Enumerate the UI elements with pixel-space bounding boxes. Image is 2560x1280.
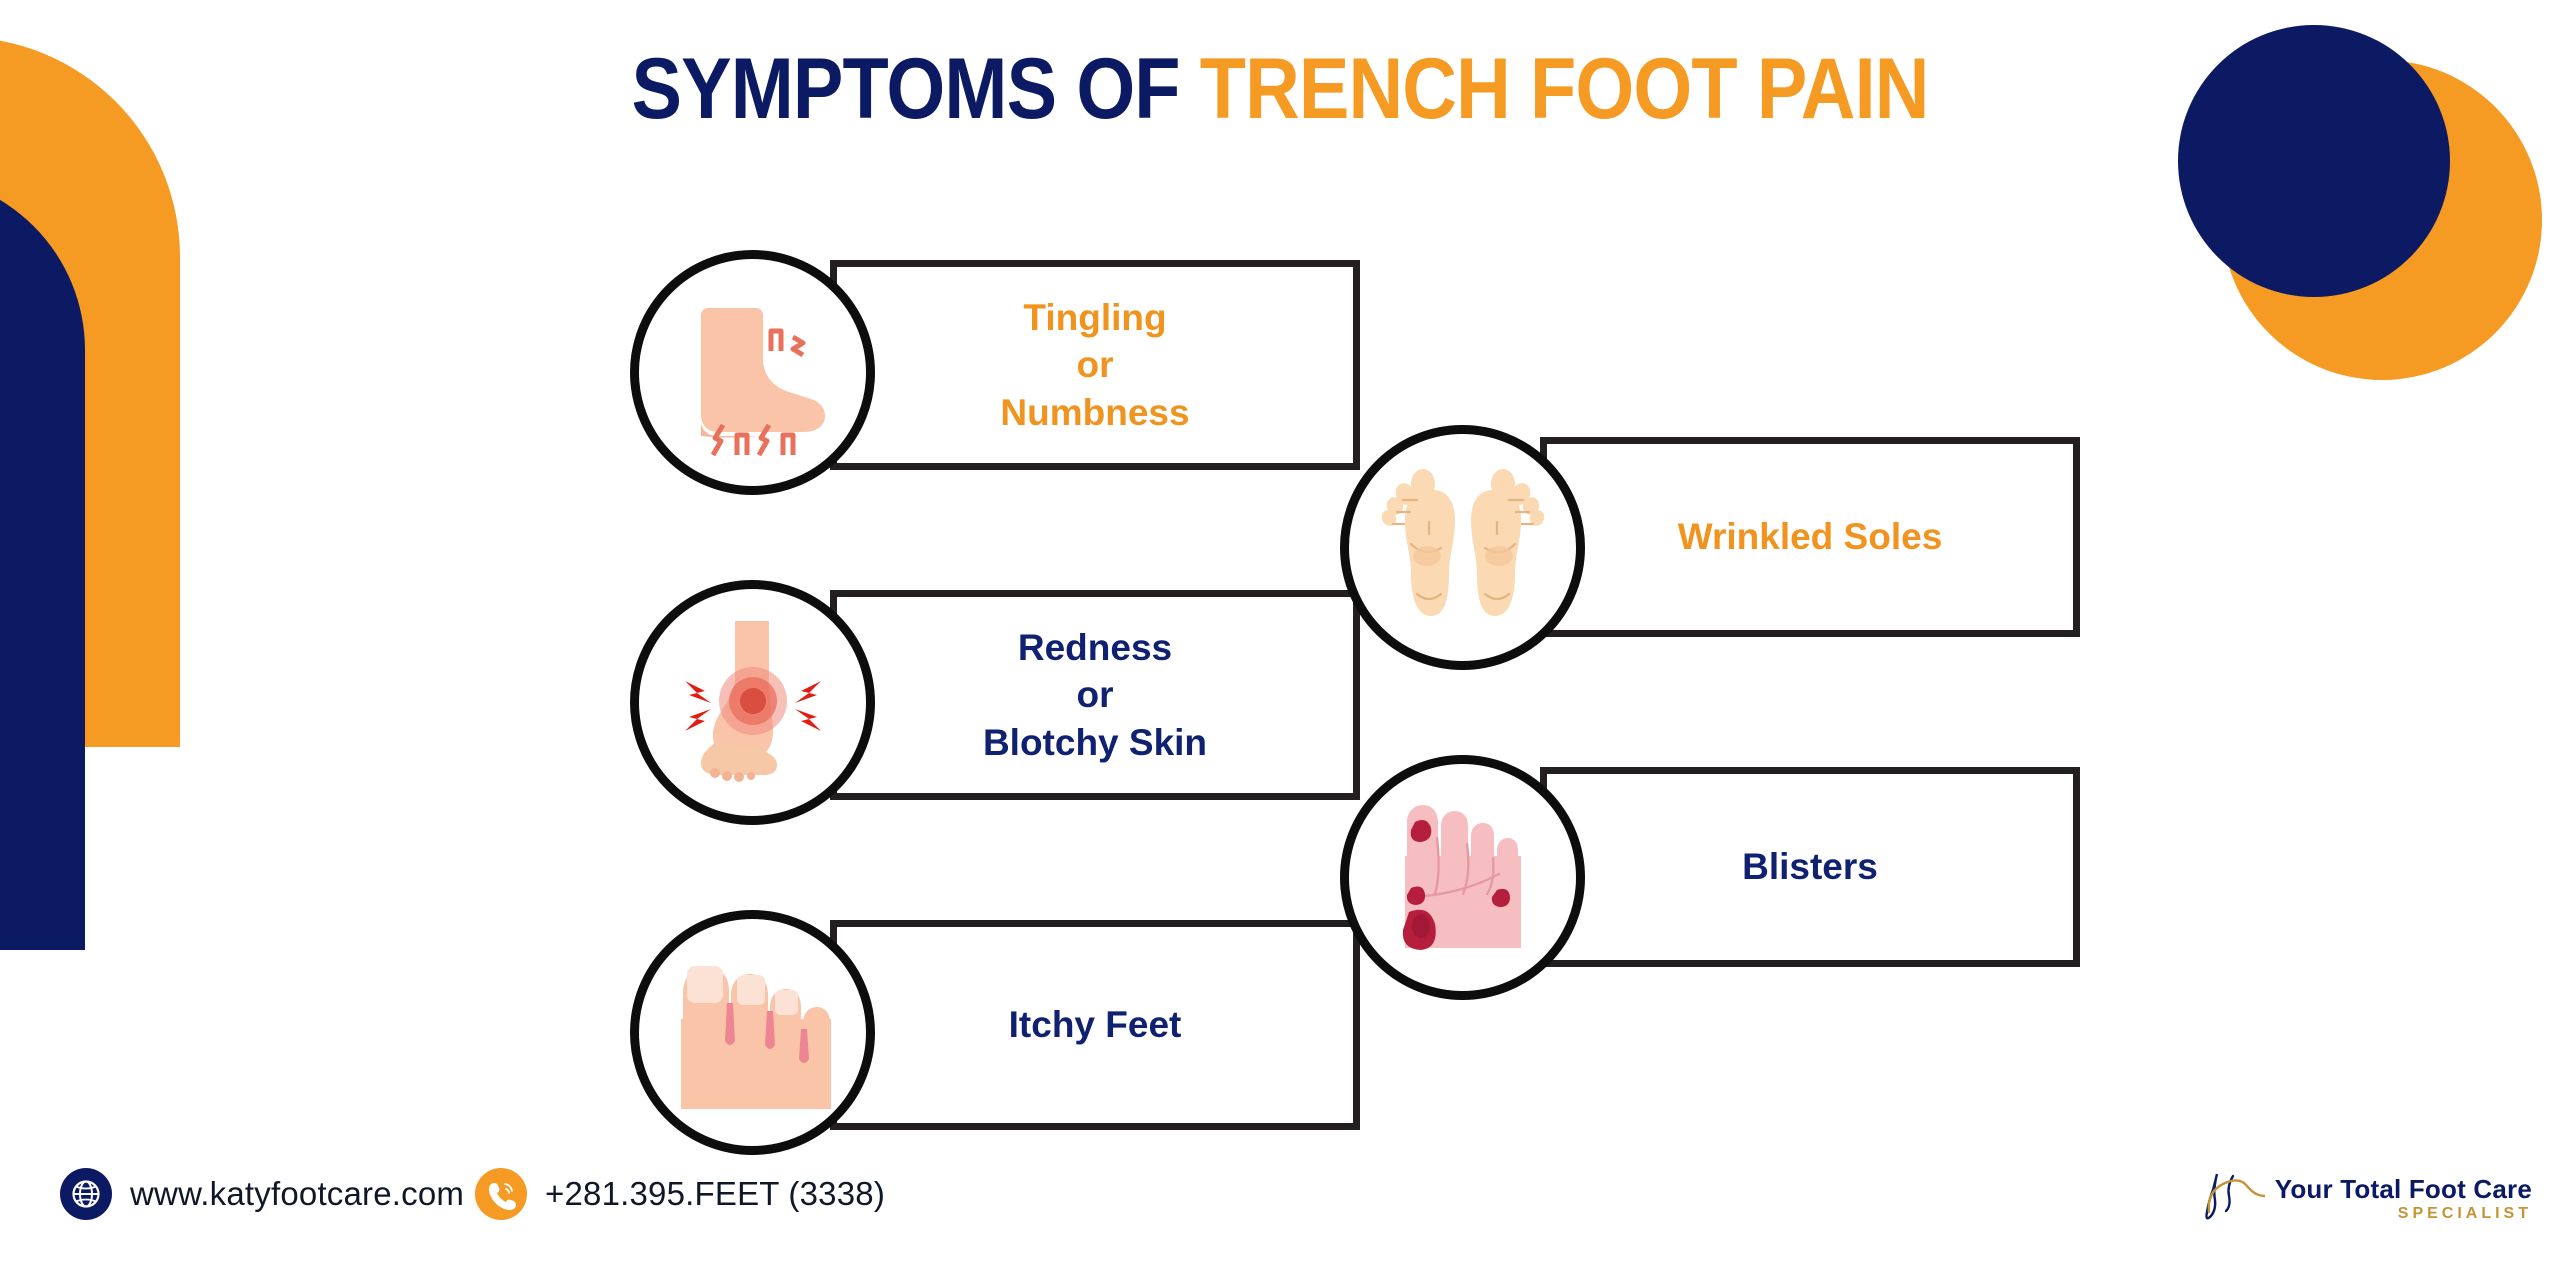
symptom-icon-circle (1340, 755, 1585, 1000)
foot-blisters-icon (1363, 778, 1563, 978)
symptom-card-wrinkled-soles[interactable]: Wrinkled Soles (1340, 425, 2100, 670)
logo-title: Your Total Foot Care (2275, 1176, 2532, 1202)
globe-icon (60, 1168, 112, 1220)
footer: www.katyfootcare.com +281.395.FEET (3338… (0, 1150, 2560, 1280)
toes-scratch-icon (653, 933, 853, 1133)
footer-phone[interactable]: +281.395.FEET (3338) (475, 1168, 885, 1220)
symptom-label-line3: Blotchy Skin (983, 719, 1207, 766)
symptom-icon-circle (630, 580, 875, 825)
symptom-label: Tingling or Numbness (875, 260, 1315, 470)
two-soles-icon (1363, 448, 1563, 648)
symptom-label-line2: or (1077, 341, 1114, 388)
symptom-label: Wrinkled Soles (1590, 437, 2030, 637)
symptom-label: Blisters (1590, 767, 2030, 967)
foot-outline-logo-icon (2203, 1168, 2265, 1229)
symptom-card-redness[interactable]: Redness or Blotchy Skin (630, 580, 1370, 825)
symptom-card-blisters[interactable]: Blisters (1340, 755, 2100, 1000)
page-title-accent: TRENCH FOOT PAIN (1200, 41, 1929, 137)
symptom-label-line1: Wrinkled Soles (1678, 513, 1943, 560)
symptom-label-line1: Blisters (1742, 843, 1878, 890)
symptom-icon-circle (630, 250, 875, 495)
symptom-label: Redness or Blotchy Skin (875, 590, 1315, 800)
company-logo[interactable]: Your Total Foot Care SPECIALIST (2203, 1168, 2532, 1229)
phone-call-icon (475, 1168, 527, 1220)
page-title-primary: SYMPTOMS OF (631, 41, 1199, 137)
logo-subtitle: SPECIALIST (2275, 1206, 2532, 1222)
symptom-label-line3: Numbness (1000, 389, 1189, 436)
symptom-icon-circle (1340, 425, 1585, 670)
symptom-label-line1: Redness (1018, 624, 1172, 671)
symptom-label: Itchy Feet (875, 920, 1315, 1130)
footer-website-text: www.katyfootcare.com (130, 1175, 464, 1213)
ankle-inflammation-icon (653, 603, 853, 803)
page-title: SYMPTOMS OF TRENCH FOOT PAIN (154, 46, 2407, 132)
symptom-card-itchy-feet[interactable]: Itchy Feet (630, 910, 1370, 1155)
infographic-canvas: SYMPTOMS OF TRENCH FOOT PAIN Tingling or… (0, 0, 2560, 1280)
symptom-label-line1: Itchy Feet (1009, 1001, 1182, 1048)
footer-website[interactable]: www.katyfootcare.com (60, 1168, 464, 1220)
footer-phone-text: +281.395.FEET (3338) (545, 1175, 885, 1213)
foot-side-with-pain-bolts-icon (653, 273, 853, 473)
navy-arch-decoration (0, 175, 85, 950)
symptom-label-line2: or (1077, 671, 1114, 718)
symptom-icon-circle (630, 910, 875, 1155)
symptom-card-tingling[interactable]: Tingling or Numbness (630, 250, 1370, 495)
symptom-label-line1: Tingling (1023, 294, 1166, 341)
